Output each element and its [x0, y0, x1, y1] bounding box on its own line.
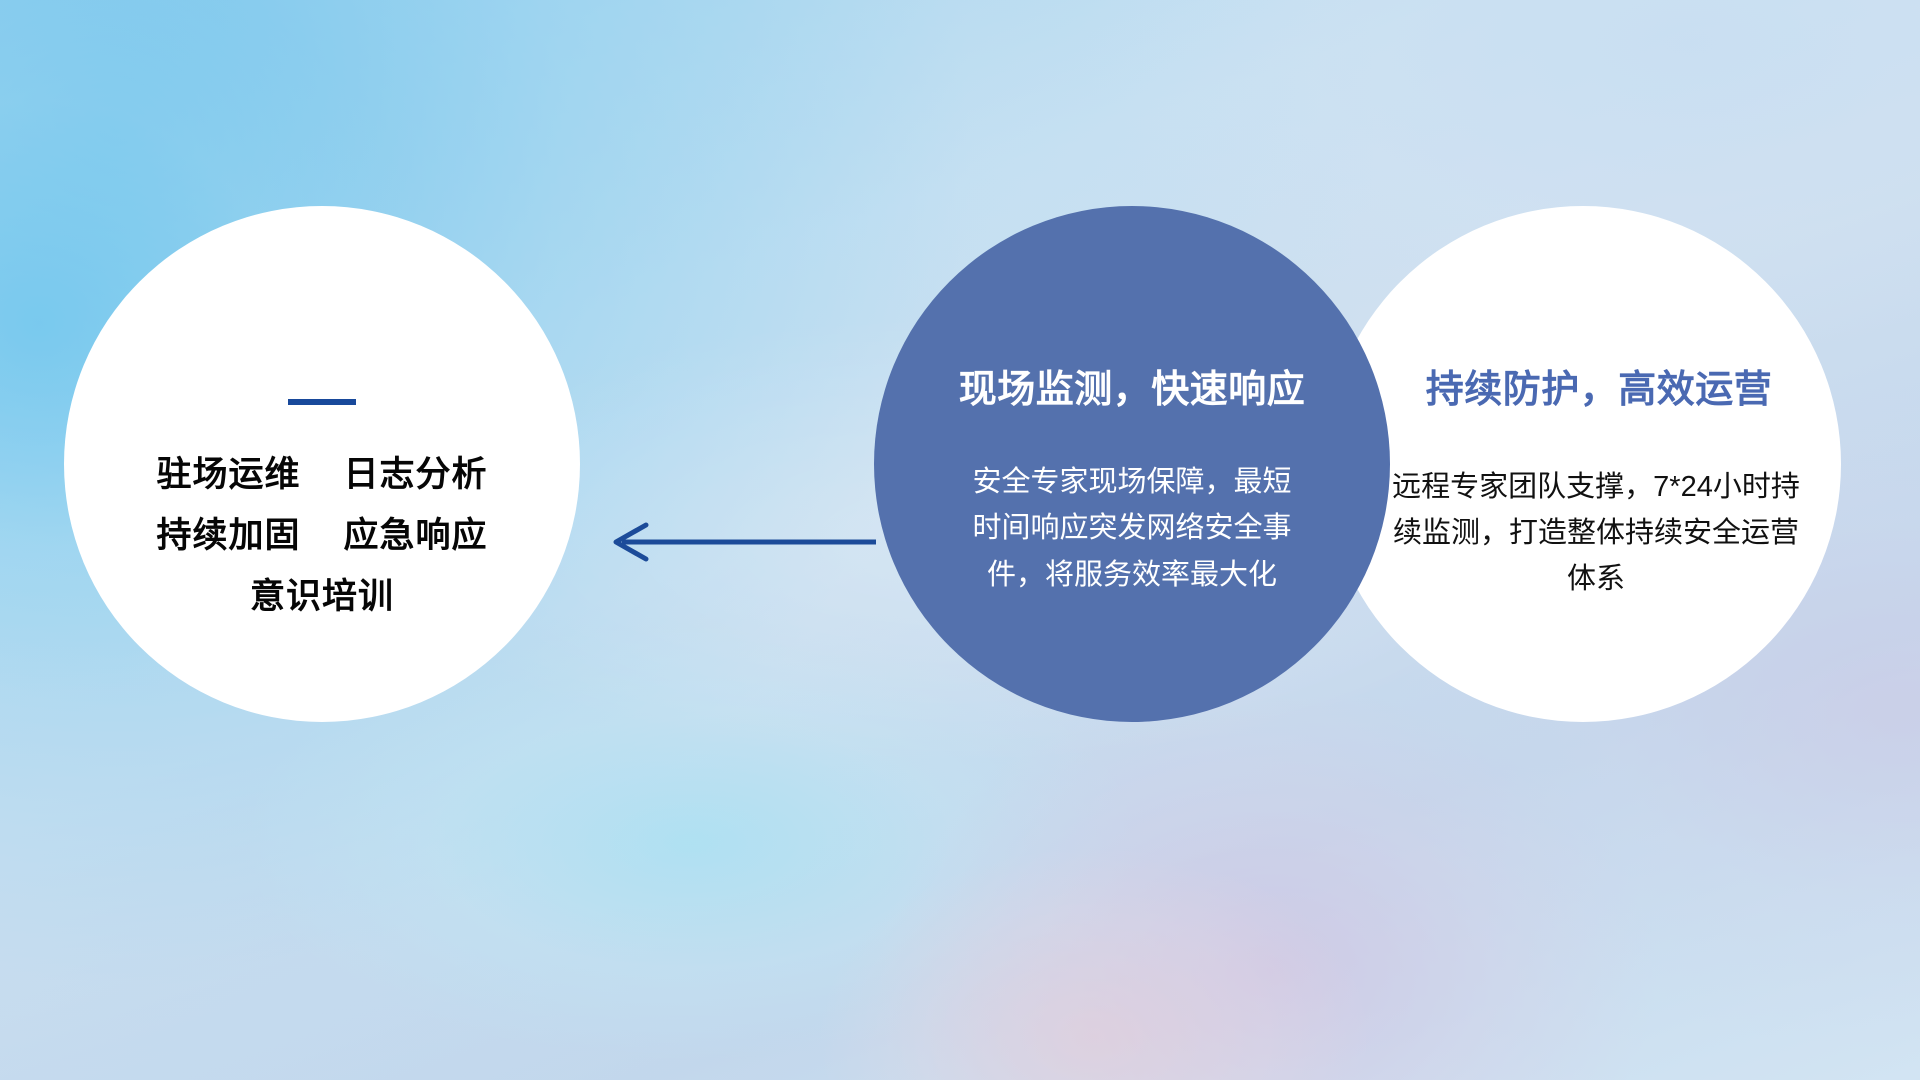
onsite-circle-content: 现场监测，快速响应 安全专家现场保障，最短时间响应突发网络安全事件，将服务效率最…	[874, 206, 1390, 722]
continuous-circle-content: 持续防护，高效运营 远程专家团队支撑，7*24小时持续监测，打造整体持续安全运营…	[1325, 206, 1841, 722]
services-circle-content: 驻场运维 日志分析 持续加固 应急响应 意识培训	[64, 206, 580, 722]
continuous-body: 远程专家团队支撑，7*24小时持续监测，打造整体持续安全运营体系	[1386, 465, 1806, 602]
services-line-1: 驻场运维 日志分析	[157, 445, 488, 506]
onsite-body: 安全专家现场保障，最短时间响应突发网络安全事件，将服务效率最大化	[967, 459, 1297, 598]
onsite-title: 现场监测，快速响应	[959, 358, 1306, 413]
continuous-title: 持续防护，高效运营	[1426, 358, 1773, 413]
left-circle-divider	[288, 399, 356, 405]
slide-canvas: 驻场运维 日志分析 持续加固 应急响应 意识培训 现场监测，快速响应 安全专家现…	[0, 0, 1920, 1080]
services-line-2: 持续加固 应急响应	[157, 506, 488, 567]
services-list: 驻场运维 日志分析 持续加固 应急响应 意识培训	[157, 445, 488, 628]
left-arrow-icon	[600, 512, 880, 572]
services-line-3: 意识培训	[157, 567, 488, 628]
